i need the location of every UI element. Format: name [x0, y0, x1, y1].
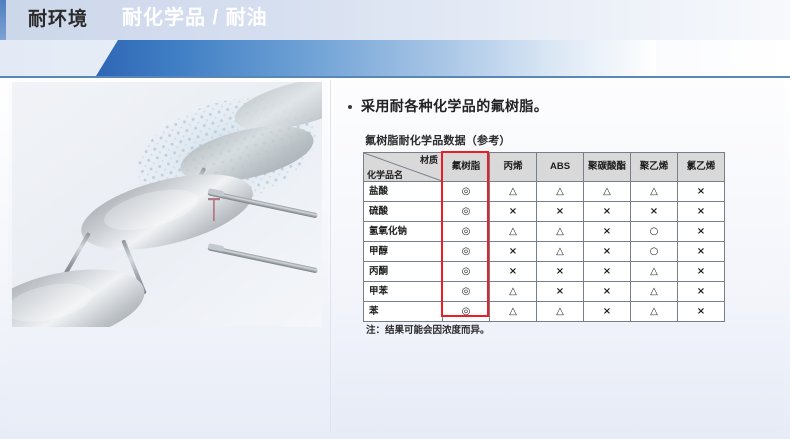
cell-value: × — [584, 202, 631, 222]
cell-value: △ — [537, 182, 584, 202]
cell-value: × — [537, 262, 584, 282]
row-label: 盐酸 — [364, 182, 443, 202]
table-note: 注：结果可能会因浓度而异。 — [366, 324, 490, 338]
cell-value: ◎ — [443, 282, 490, 302]
subbanner-background — [0, 40, 790, 76]
cell-value: △ — [537, 302, 584, 322]
cell-value: △ — [490, 182, 537, 202]
row-label: 氢氧化钠 — [364, 222, 443, 242]
slide-root: 耐环境 耐化学品 / 耐油 — [0, 0, 790, 439]
subbanner-title: 耐化学品 / 耐油 — [122, 5, 268, 32]
corner-chemical-label: 化学品名 — [367, 169, 403, 181]
table-header-row: 材质 化学品名 氟树脂 丙烯 ABS 聚碳酸酯 聚乙烯 氯乙烯 — [364, 153, 725, 182]
cell-value: ○ — [631, 242, 678, 262]
cell-value: × — [584, 282, 631, 302]
cell-value: × — [678, 302, 725, 322]
column-header-fluororesin: 氟树脂 — [443, 153, 490, 182]
cell-value: ○ — [631, 222, 678, 242]
cell-value: × — [678, 282, 725, 302]
cell-value: × — [584, 262, 631, 282]
column-header-abs: ABS — [537, 153, 584, 182]
cell-value: × — [631, 202, 678, 222]
bullet-item: 采用耐各种化学品的氟树脂。 — [348, 96, 548, 116]
subbanner-shape — [96, 40, 656, 76]
product-photo-illustration — [12, 82, 322, 327]
table-row: 盐酸 ◎ △ △ △ △ × — [364, 182, 725, 202]
row-label: 丙酮 — [364, 262, 443, 282]
cell-value: × — [678, 262, 725, 282]
row-label: 苯 — [364, 302, 443, 322]
page-title: 耐环境 — [28, 7, 88, 33]
table-row: 硫酸 ◎ × × × × × — [364, 202, 725, 222]
product-photo — [12, 82, 322, 327]
cell-value: × — [678, 242, 725, 262]
column-header-acrylic: 丙烯 — [490, 153, 537, 182]
table-row: 氢氧化钠 ◎ △ △ × ○ × — [364, 222, 725, 242]
cell-value: × — [490, 242, 537, 262]
cell-value: ◎ — [443, 222, 490, 242]
cell-value: △ — [537, 222, 584, 242]
column-header-polyethylene: 聚乙烯 — [631, 153, 678, 182]
cell-value: × — [490, 202, 537, 222]
corner-material-label: 材质 — [420, 154, 438, 166]
cell-value: × — [584, 242, 631, 262]
table-caption: 氟树脂耐化学品数据（参考） — [365, 134, 511, 149]
table-corner-cell: 材质 化学品名 — [364, 153, 443, 182]
cell-value: × — [678, 222, 725, 242]
cell-value: △ — [490, 282, 537, 302]
table-body: 盐酸 ◎ △ △ △ △ × 硫酸 ◎ × × × × × 氢氧化钠 ◎ △ — [364, 182, 725, 322]
cell-value: △ — [631, 302, 678, 322]
row-label: 甲醇 — [364, 242, 443, 262]
header-accent-bar — [0, 0, 6, 40]
table-row: 甲苯 ◎ △ × × △ × — [364, 282, 725, 302]
cell-value: × — [490, 262, 537, 282]
table-row: 甲醇 ◎ × △ × ○ × — [364, 242, 725, 262]
chemical-resistance-table: 材质 化学品名 氟树脂 丙烯 ABS 聚碳酸酯 聚乙烯 氯乙烯 盐酸 ◎ △ △… — [363, 152, 725, 322]
row-label: 甲苯 — [364, 282, 443, 302]
column-header-pvc: 氯乙烯 — [678, 153, 725, 182]
cell-value: ◎ — [443, 202, 490, 222]
cell-value: △ — [631, 282, 678, 302]
cell-value: ◎ — [443, 242, 490, 262]
cell-value: △ — [631, 262, 678, 282]
cell-value: △ — [631, 182, 678, 202]
cell-value: × — [537, 202, 584, 222]
cell-value: ◎ — [443, 262, 490, 282]
cell-value: △ — [584, 182, 631, 202]
cell-value: △ — [490, 302, 537, 322]
row-label: 硫酸 — [364, 202, 443, 222]
cell-value: × — [584, 302, 631, 322]
bullet-text: 采用耐各种化学品的氟树脂。 — [361, 96, 548, 116]
table-header: 材质 化学品名 氟树脂 丙烯 ABS 聚碳酸酯 聚乙烯 氯乙烯 — [364, 153, 725, 182]
header-band — [0, 0, 790, 40]
table-row: 丙酮 ◎ × × × △ × — [364, 262, 725, 282]
panel-divider — [330, 80, 331, 432]
table-row: 苯 ◎ △ △ × △ × — [364, 302, 725, 322]
cell-value: × — [678, 182, 725, 202]
cell-value: ◎ — [443, 302, 490, 322]
cell-value: △ — [490, 222, 537, 242]
cell-value: ◎ — [443, 182, 490, 202]
column-header-polycarbonate: 聚碳酸酯 — [584, 153, 631, 182]
bullet-dot-icon — [348, 105, 352, 109]
cell-value: × — [584, 222, 631, 242]
cell-value: × — [678, 202, 725, 222]
cell-value: △ — [537, 242, 584, 262]
cell-value: × — [537, 282, 584, 302]
